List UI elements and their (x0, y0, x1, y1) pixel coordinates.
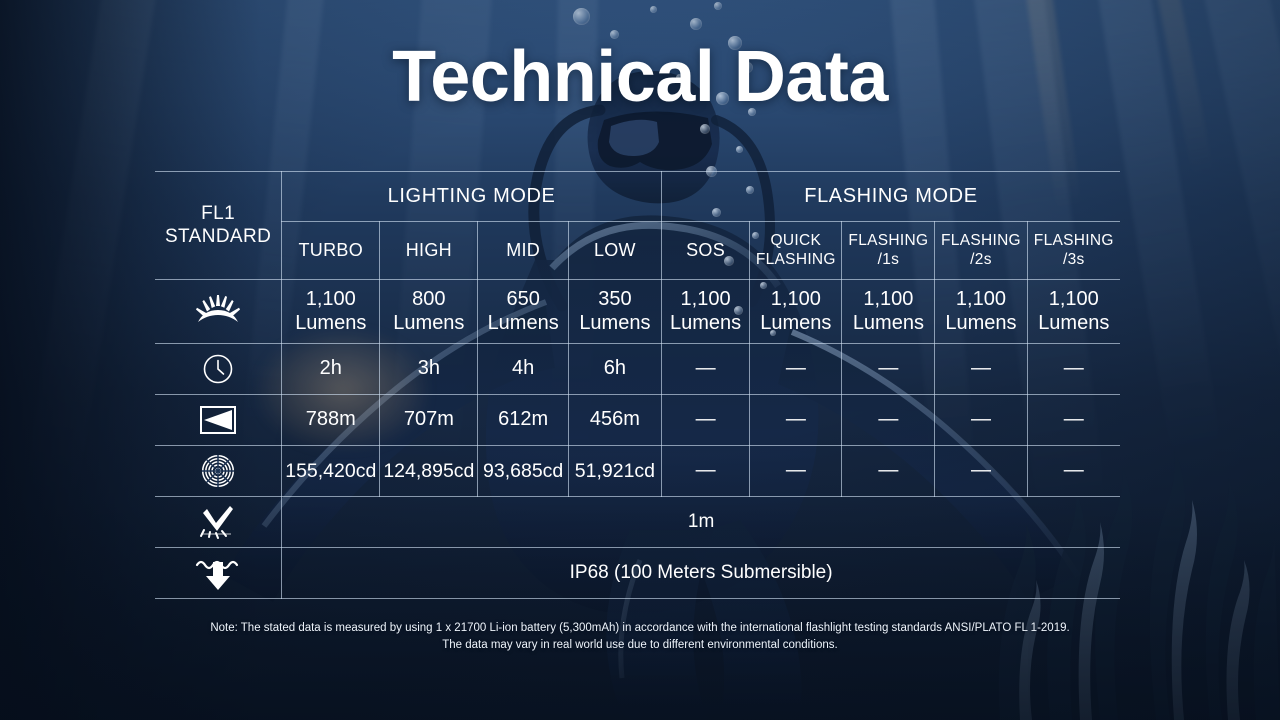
table-header-row-modes: TURBO HIGH MID LOW SOS QUICK FLASHING FL… (155, 222, 1120, 280)
cell-candela-mid: 93,685cd (478, 446, 568, 497)
cell-candela-flashing-2s: — (935, 446, 1027, 497)
mode-header-mid: MID (478, 222, 568, 280)
table-header-row-group: FL1 STANDARD LIGHTING MODE FLASHING MODE (155, 172, 1120, 222)
beam-distance-icon-cell (155, 395, 282, 446)
technical-data-table: FL1 STANDARD LIGHTING MODE FLASHING MODE… (155, 171, 1120, 599)
cell-lumens-turbo: 1,100 Lumens (282, 280, 380, 344)
group-header-flashing-mode: FLASHING MODE (661, 172, 1120, 222)
fl1-standard-line2: STANDARD (165, 226, 271, 247)
mode-header-quick-flashing-line2: FLASHING (756, 251, 836, 268)
light-output-icon-cell (155, 280, 282, 344)
cell-value-line2: Lumens (853, 312, 924, 334)
cell-runtime-high: 3h (380, 344, 478, 395)
mode-header-flashing-3s-line2: /3s (1063, 251, 1085, 268)
cell-candela-quick-flashing: — (750, 446, 842, 497)
mode-header-flashing-2s-line2: /2s (970, 251, 992, 268)
cell-runtime-mid: 4h (478, 344, 568, 395)
cell-distance-sos: — (661, 395, 749, 446)
cell-value-line1: 350 (598, 288, 631, 310)
cell-distance-turbo: 788m (282, 395, 380, 446)
mode-header-sos: SOS (661, 222, 749, 280)
cell-value-line1: 1,100 (681, 288, 731, 310)
cell-runtime-flashing-3s: — (1027, 344, 1120, 395)
table-row: 2h 3h 4h 6h — — — — — (155, 344, 1120, 395)
water-resistance-icon-cell (155, 548, 282, 599)
cell-value-line2: Lumens (488, 312, 559, 334)
group-header-lighting-mode: LIGHTING MODE (282, 172, 662, 222)
cell-distance-high: 707m (380, 395, 478, 446)
mode-header-flashing-1s-line2: /1s (878, 251, 900, 268)
runtime-clock-icon (202, 353, 234, 385)
cell-value-line1: 1,100 (863, 288, 913, 310)
cell-value-line2: Lumens (760, 312, 831, 334)
cell-lumens-quick-flashing: 1,100 Lumens (750, 280, 842, 344)
cell-value-line1: 650 (506, 288, 539, 310)
mode-header-flashing-2s: FLASHING /2s (935, 222, 1027, 280)
beam-distance-icon (200, 405, 236, 435)
mode-header-flashing-1s-line1: FLASHING (848, 232, 928, 249)
cell-distance-quick-flashing: — (750, 395, 842, 446)
table-row: 1,100 Lumens 800 Lumens 650 Lumens 350 L… (155, 280, 1120, 344)
table-row: IP68 (100 Meters Submersible) (155, 548, 1120, 599)
fl1-standard-header: FL1 STANDARD (155, 172, 282, 280)
cell-value-line1: 1,100 (956, 288, 1006, 310)
cell-value-line1: 800 (412, 288, 445, 310)
runtime-icon-cell (155, 344, 282, 395)
cell-distance-mid: 612m (478, 395, 568, 446)
fl1-standard-line1: FL1 (201, 203, 235, 224)
footnote: Note: The stated data is measured by usi… (0, 620, 1280, 653)
cell-lumens-low: 350 Lumens (568, 280, 661, 344)
table-row: 155,420cd 124,895cd 93,685cd 51,921cd — … (155, 446, 1120, 497)
cell-value-line2: Lumens (393, 312, 464, 334)
cell-lumens-mid: 650 Lumens (478, 280, 568, 344)
cell-distance-flashing-1s: — (842, 395, 935, 446)
impact-resistance-icon (199, 505, 237, 539)
cell-candela-high: 124,895cd (380, 446, 478, 497)
cell-lumens-sos: 1,100 Lumens (661, 280, 749, 344)
cell-value-line2: Lumens (295, 312, 366, 334)
mode-header-flashing-1s: FLASHING /1s (842, 222, 935, 280)
cell-value-line2: Lumens (670, 312, 741, 334)
cell-runtime-flashing-1s: — (842, 344, 935, 395)
cell-distance-low: 456m (568, 395, 661, 446)
cell-value-line1: 1,100 (1049, 288, 1099, 310)
water-resistance-icon (195, 556, 241, 590)
peak-beam-intensity-icon-cell (155, 446, 282, 497)
cell-value-line2: Lumens (579, 312, 650, 334)
cell-runtime-flashing-2s: — (935, 344, 1027, 395)
cell-lumens-flashing-2s: 1,100 Lumens (935, 280, 1027, 344)
footnote-line-2: The data may vary in real world use due … (0, 637, 1280, 654)
cell-candela-low: 51,921cd (568, 446, 661, 497)
cell-value-line2: Lumens (1038, 312, 1109, 334)
mode-header-flashing-2s-line1: FLASHING (941, 232, 1021, 249)
mode-header-turbo: TURBO (282, 222, 380, 280)
cell-value-line1: 1,100 (771, 288, 821, 310)
cell-candela-flashing-3s: — (1027, 446, 1120, 497)
mode-header-quick-flashing: QUICK FLASHING (750, 222, 842, 280)
cell-lumens-flashing-3s: 1,100 Lumens (1027, 280, 1120, 344)
cell-runtime-low: 6h (568, 344, 661, 395)
mode-header-quick-flashing-line1: QUICK (771, 232, 822, 249)
light-output-icon (195, 295, 241, 329)
page-title: Technical Data (0, 36, 1280, 118)
cell-runtime-turbo: 2h (282, 344, 380, 395)
spec-table-container: FL1 STANDARD LIGHTING MODE FLASHING MODE… (155, 171, 1120, 599)
cell-candela-flashing-1s: — (842, 446, 935, 497)
mode-header-flashing-3s: FLASHING /3s (1027, 222, 1120, 280)
cell-value-line1: 1,100 (306, 288, 356, 310)
cell-distance-flashing-2s: — (935, 395, 1027, 446)
footnote-line-1: Note: The stated data is measured by usi… (0, 620, 1280, 637)
cell-lumens-high: 800 Lumens (380, 280, 478, 344)
cell-impact-resistance-value: 1m (282, 497, 1120, 548)
cell-value-line2: Lumens (945, 312, 1016, 334)
cell-candela-turbo: 155,420cd (282, 446, 380, 497)
cell-distance-flashing-3s: — (1027, 395, 1120, 446)
impact-resistance-icon-cell (155, 497, 282, 548)
table-row: 1m (155, 497, 1120, 548)
cell-runtime-quick-flashing: — (750, 344, 842, 395)
mode-header-high: HIGH (380, 222, 478, 280)
cell-water-resistance-value: IP68 (100 Meters Submersible) (282, 548, 1120, 599)
mode-header-low: LOW (568, 222, 661, 280)
peak-beam-intensity-icon (201, 454, 235, 488)
cell-candela-sos: — (661, 446, 749, 497)
mode-header-flashing-3s-line1: FLASHING (1034, 232, 1114, 249)
table-row: 788m 707m 612m 456m — — — — — (155, 395, 1120, 446)
cell-lumens-flashing-1s: 1,100 Lumens (842, 280, 935, 344)
cell-runtime-sos: — (661, 344, 749, 395)
